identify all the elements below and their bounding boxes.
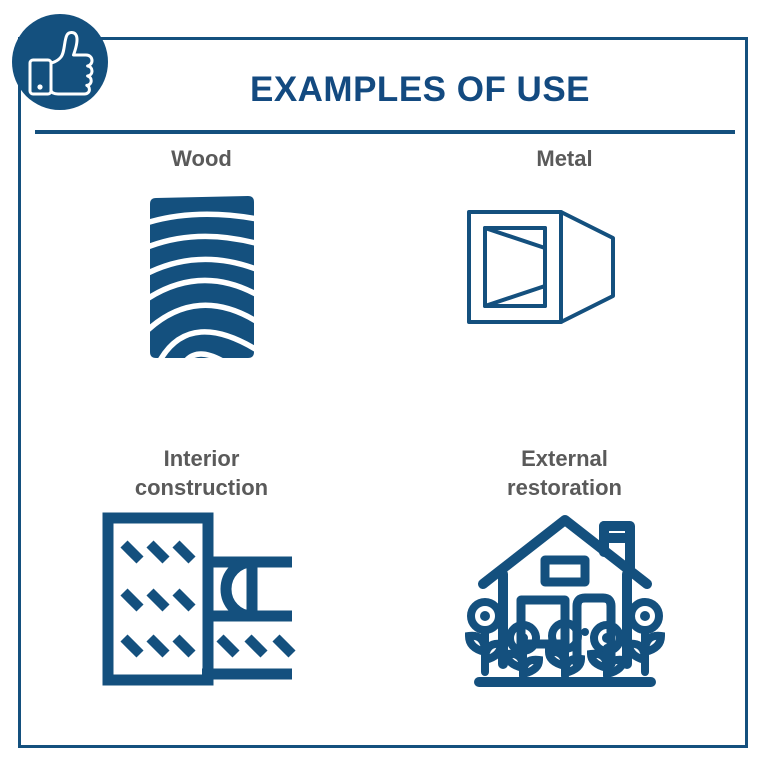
example-card-interior: Interior construction <box>20 445 383 712</box>
example-art-wood <box>20 180 383 392</box>
example-label-metal: Metal <box>383 145 746 174</box>
infographic-card: EXAMPLES OF USE Wood <box>0 0 768 768</box>
thumbs-up-badge <box>12 14 108 110</box>
example-label-wood: Wood <box>20 145 383 174</box>
example-label-interior: Interior construction <box>20 445 383 502</box>
example-card-metal: Metal <box>383 145 746 392</box>
wood-grain-icon <box>142 192 262 362</box>
metal-beam-icon <box>465 192 665 352</box>
example-card-wood: Wood <box>20 145 383 392</box>
examples-grid: Wood <box>20 145 746 740</box>
example-label-external: External restoration <box>383 445 746 502</box>
house-with-flowers-icon <box>465 512 665 702</box>
title-divider <box>35 130 735 134</box>
example-art-interior <box>20 508 383 712</box>
example-card-external: External restoration <box>383 445 746 712</box>
thumbs-up-icon <box>12 14 108 110</box>
page-title: EXAMPLES OF USE <box>120 70 720 110</box>
example-art-external <box>383 508 746 712</box>
example-art-metal <box>383 180 746 392</box>
insulated-wall-panel-icon <box>102 512 302 692</box>
